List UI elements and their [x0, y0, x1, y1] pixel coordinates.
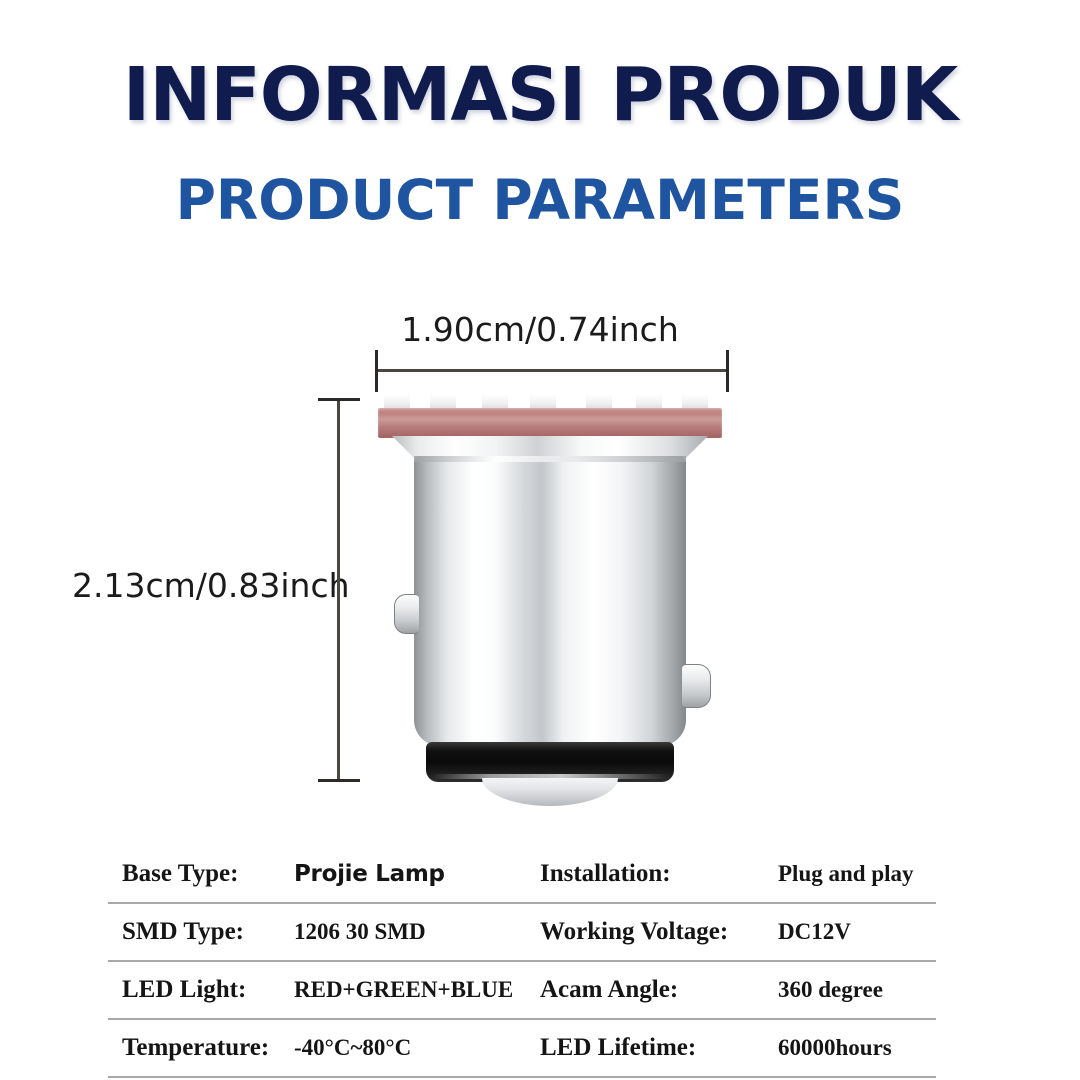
- spec-label: SMD Type:: [122, 918, 294, 946]
- spec-label: Acam Angle:: [540, 976, 778, 1004]
- spec-label: LED Light:: [122, 976, 294, 1004]
- spec-label: Base Type:: [122, 860, 294, 888]
- spec-value: 1206 30 SMD: [294, 919, 426, 945]
- height-dimension-cap-bottom: [318, 779, 360, 782]
- base-contact-dome: [482, 778, 618, 806]
- bulb-body-top-edge: [414, 456, 686, 462]
- page-subtitle: PRODUCT PARAMETERS: [0, 168, 1080, 232]
- spec-cell-left: SMD Type:1206 30 SMD: [108, 918, 522, 946]
- width-dimension-cap-left: [375, 350, 378, 392]
- spec-value: Plug and play: [778, 861, 914, 887]
- spec-cell-right: Acam Angle:360 degree: [522, 976, 936, 1004]
- spec-cell-right: LED Lifetime:60000hours: [522, 1034, 936, 1062]
- spec-value: -40°C~80°C: [294, 1035, 411, 1061]
- spec-value: 360 degree: [778, 977, 883, 1003]
- spec-row: LED Light:RED+GREEN+BLUEAcam Angle:360 d…: [108, 962, 936, 1020]
- height-dimension-label: 2.13cm/0.83inch: [72, 566, 350, 605]
- specification-table: Base Type:Projie LampInstallation:Plug a…: [108, 846, 936, 1078]
- spec-cell-right: Working Voltage:DC12V: [522, 918, 936, 946]
- width-dimension-cap-right: [726, 350, 729, 392]
- led-bulb-image: [370, 392, 730, 812]
- spec-label: Installation:: [540, 860, 778, 888]
- width-dimension-label: 1.90cm/0.74inch: [0, 310, 1080, 349]
- page-title: INFORMASI PRODUK: [0, 52, 1080, 138]
- bayonet-pin-left: [394, 594, 419, 634]
- pcb-plate: [378, 408, 722, 438]
- spec-label: LED Lifetime:: [540, 1034, 778, 1062]
- bayonet-pin-right: [682, 664, 711, 708]
- spec-value: 60000hours: [778, 1035, 892, 1061]
- bulb-shoulder: [392, 436, 708, 458]
- spec-label: Working Voltage:: [540, 918, 778, 946]
- spec-cell-left: LED Light:RED+GREEN+BLUE: [108, 976, 522, 1004]
- product-info-page: INFORMASI PRODUK PRODUCT PARAMETERS 1.90…: [0, 0, 1080, 1080]
- spec-value: RED+GREEN+BLUE: [294, 977, 513, 1003]
- spec-cell-left: Temperature:-40°C~80°C: [108, 1034, 522, 1062]
- spec-cell-left: Base Type:Projie Lamp: [108, 860, 522, 888]
- width-dimension-line: [376, 369, 727, 372]
- bulb-chrome-body: [414, 456, 686, 746]
- spec-cell-right: Installation:Plug and play: [522, 860, 936, 888]
- height-dimension-line: [337, 399, 340, 781]
- spec-label: Temperature:: [122, 1034, 294, 1062]
- height-dimension-cap-top: [318, 398, 360, 401]
- spec-row: Base Type:Projie LampInstallation:Plug a…: [108, 846, 936, 904]
- spec-value: Projie Lamp: [294, 861, 445, 887]
- spec-value: DC12V: [778, 919, 851, 945]
- spec-row: Temperature:-40°C~80°CLED Lifetime:60000…: [108, 1020, 936, 1078]
- spec-row: SMD Type:1206 30 SMDWorking Voltage:DC12…: [108, 904, 936, 962]
